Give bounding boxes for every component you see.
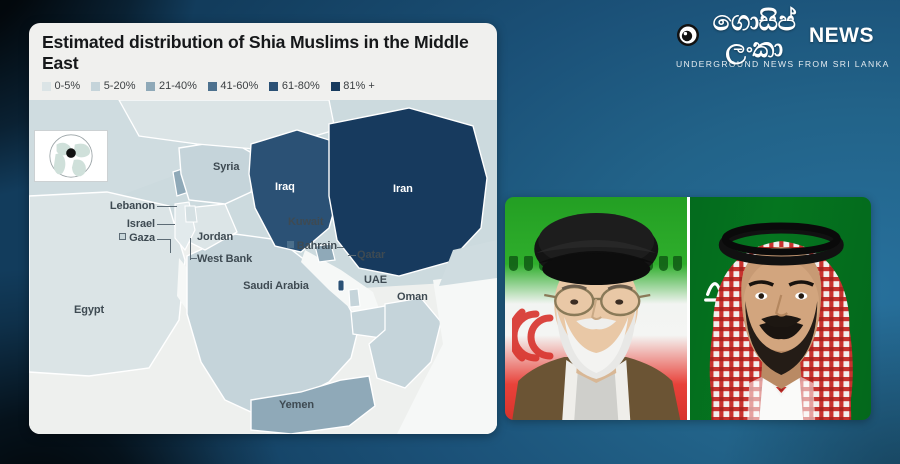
leader-line-gaza-h: [157, 239, 171, 240]
leader-line-israel: [157, 224, 175, 225]
logo-news-text: NEWS: [809, 25, 874, 46]
map-label-iraq: Iraq: [275, 182, 295, 194]
khamenei-figure: [505, 197, 687, 420]
legend-item: 81% +: [331, 80, 375, 92]
globe-locator-inset: [34, 130, 108, 182]
legend-swatch: [269, 82, 278, 91]
map-label-iran: Iran: [393, 184, 413, 196]
map-label-jordan: Jordan: [197, 232, 233, 244]
map-label-qatar: Qatar: [357, 250, 385, 262]
leader-line-qatar: [348, 255, 356, 256]
map-label-yemen: Yemen: [279, 400, 314, 412]
map-label-lebanon: Lebanon: [91, 201, 155, 213]
map-label-egypt: Egypt: [74, 305, 104, 317]
map-label-saudi-arabia: Saudi Arabia: [241, 281, 311, 293]
legend-label: 41-60%: [220, 80, 258, 92]
map-label-kuwait: Kuwait: [288, 217, 323, 229]
legend-label: 61-80%: [282, 80, 320, 92]
map-label-bahrain: Bahrain: [259, 241, 337, 253]
globe-icon: [35, 131, 107, 181]
leader-line-bahrain: [337, 247, 344, 248]
map-label-west-bank: West Bank: [197, 254, 252, 266]
map-label-uae: UAE: [364, 275, 387, 287]
logo-sinhala-text: ගොසිප් ලංකා: [702, 8, 806, 62]
site-logo[interactable]: ගොසිප් ලංකා NEWS UNDERGROUND NEWS FROM S…: [676, 14, 874, 76]
legend-item: 61-80%: [269, 80, 319, 92]
legend-label: 21-40%: [159, 80, 197, 92]
legend-item: 0-5%: [42, 80, 80, 92]
map-legend: 0-5% 5-20% 21-40% 41-60% 61-80% 81% +: [42, 80, 484, 95]
map-header: Estimated distribution of Shia Muslims i…: [29, 23, 497, 95]
legend-item: 41-60%: [208, 80, 258, 92]
legend-swatch: [146, 82, 155, 91]
leader-line-westbank-v: [190, 238, 191, 260]
legend-swatch: [42, 82, 51, 91]
map-body[interactable]: Syria Lebanon Israel Gaza Jordan West Ba…: [29, 100, 497, 434]
leader-line-lebanon: [157, 206, 177, 207]
legend-label: 81% +: [343, 80, 375, 92]
map-card: Estimated distribution of Shia Muslims i…: [29, 23, 497, 434]
bahrain-marker-icon: [287, 241, 294, 248]
leader-line-westbank-h: [190, 258, 197, 259]
legend-swatch: [91, 82, 100, 91]
eye-icon: [676, 23, 700, 47]
legend-item: 5-20%: [91, 80, 135, 92]
map-title: Estimated distribution of Shia Muslims i…: [42, 32, 484, 73]
photo-mbs[interactable]: [690, 197, 872, 420]
legend-item: 21-40%: [146, 80, 196, 92]
map-label-israel: Israel: [95, 219, 155, 231]
gaza-marker-icon: [119, 233, 126, 240]
photo-khamenei[interactable]: [505, 197, 687, 420]
leader-line-gaza-v: [170, 239, 171, 253]
legend-swatch: [331, 82, 340, 91]
map-label-oman: Oman: [397, 292, 428, 304]
legend-label: 5-20%: [104, 80, 136, 92]
map-label-syria: Syria: [213, 162, 239, 174]
leader-photo-pair[interactable]: [505, 197, 871, 420]
mbs-figure: [690, 197, 872, 420]
map-label-gaza: Gaza: [89, 233, 155, 245]
legend-label: 0-5%: [55, 80, 81, 92]
legend-swatch: [208, 82, 217, 91]
logo-wordmark: ගොසිප් ලංකා NEWS: [676, 14, 874, 56]
